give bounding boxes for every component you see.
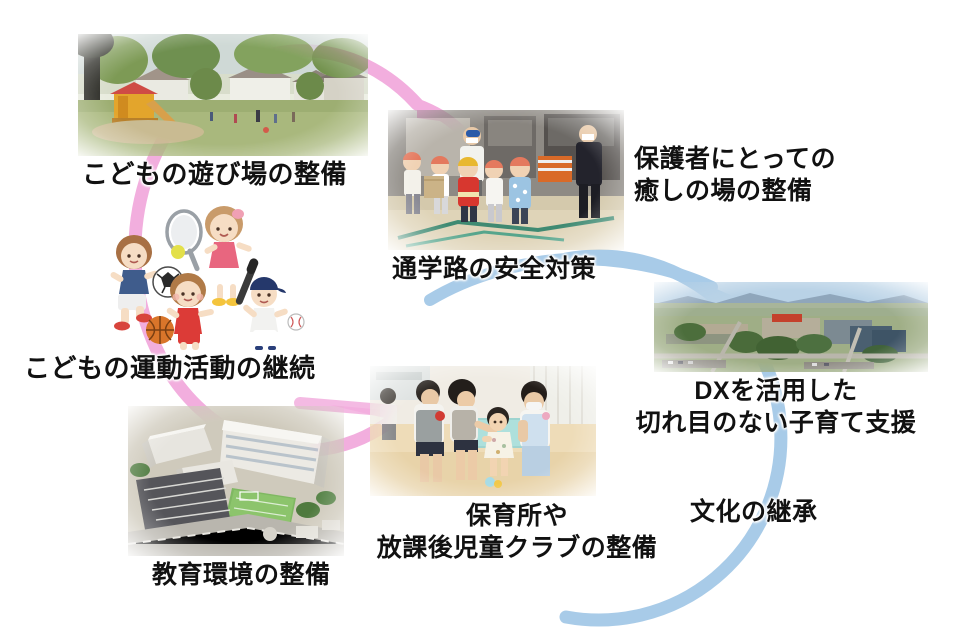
label-sports: こどもの運動活動の継続	[24, 352, 316, 385]
label-healing-place: 保護者にとっての 癒しの場の整備	[634, 143, 836, 207]
label-education: 教育環境の整備	[152, 559, 331, 591]
label-nursery: 保育所や 放課後児童クラブの整備	[352, 500, 682, 564]
school-route-photo	[388, 110, 624, 250]
label-school-route: 通学路の安全対策	[392, 253, 596, 285]
playground-photo	[78, 34, 368, 156]
sports-illustration	[96, 198, 326, 350]
label-culture: 文化の継承	[690, 496, 818, 528]
label-dx-support: DXを活用した 切れ目のない子育て支援	[626, 375, 926, 439]
label-playground: こどもの遊び場の整備	[82, 158, 347, 191]
nursery-photo	[370, 366, 596, 496]
school-aerial-photo	[128, 406, 344, 556]
townscape-aerial-photo	[654, 282, 928, 372]
diagram-canvas: こどもの遊び場の整備 こどもの運動活動の継続 通学路の安全対策 保護者にとっての…	[0, 0, 960, 640]
